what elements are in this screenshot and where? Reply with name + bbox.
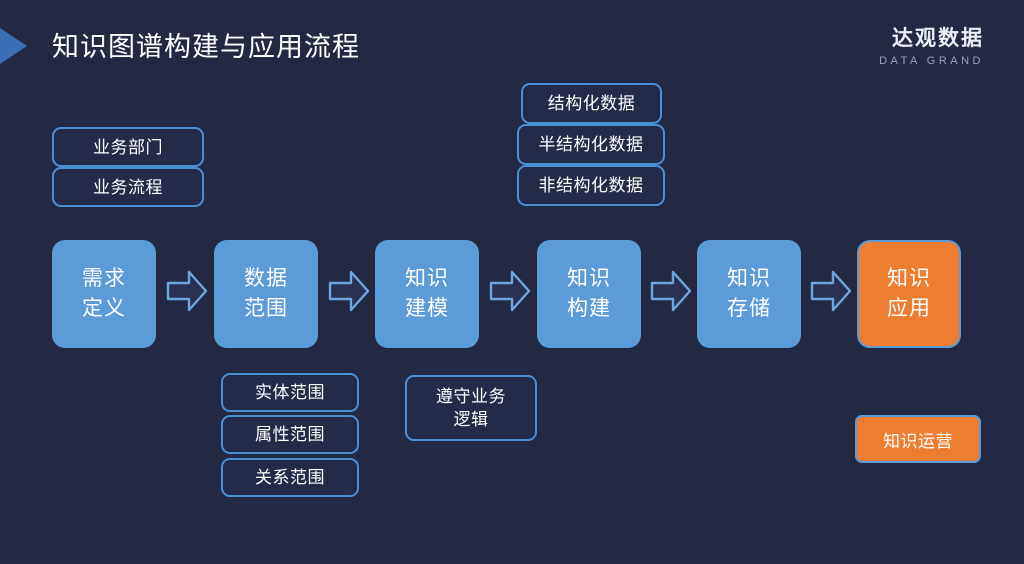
process-step-2-line1: 知识 xyxy=(405,264,449,294)
process-step-5-line1: 知识 xyxy=(887,264,931,294)
top-left-item-0-label: 业务部门 xyxy=(93,136,163,159)
top-center-item-2[interactable]: 非结构化数据 xyxy=(517,165,665,206)
bottom-logic-box-line1: 遵守业务 xyxy=(436,385,506,408)
process-step-5[interactable]: 知识 应用 xyxy=(857,240,961,348)
slide-canvas: 知识图谱构建与应用流程 达观数据 DATA GRAND 业务部门 业务流程 结构… xyxy=(0,0,1024,564)
bottom-ops-box[interactable]: 知识运营 xyxy=(855,415,981,463)
triangle-right-icon xyxy=(0,28,27,64)
process-step-0-line1: 需求 xyxy=(82,264,126,294)
block-arrow-right-icon xyxy=(489,268,531,314)
brand-logo: 达观数据 DATA GRAND xyxy=(879,26,984,69)
process-step-3-line2: 构建 xyxy=(567,294,611,324)
block-arrow-right-icon xyxy=(328,268,370,314)
process-step-4-line2: 存储 xyxy=(727,294,771,324)
bottom-logic-box-line2: 逻辑 xyxy=(454,408,489,431)
process-step-4[interactable]: 知识 存储 xyxy=(697,240,801,348)
process-step-2[interactable]: 知识 建模 xyxy=(375,240,479,348)
process-step-4-line1: 知识 xyxy=(727,264,771,294)
bottom-scope-item-0-label: 实体范围 xyxy=(255,381,325,404)
brand-logo-en: DATA GRAND xyxy=(879,53,984,69)
bottom-scope-item-1[interactable]: 属性范围 xyxy=(221,415,359,454)
top-center-item-1-label: 半结构化数据 xyxy=(539,133,644,156)
block-arrow-right-icon xyxy=(166,268,208,314)
top-center-item-0-label: 结构化数据 xyxy=(548,92,636,115)
process-step-3-line1: 知识 xyxy=(567,264,611,294)
bottom-scope-item-1-label: 属性范围 xyxy=(255,423,325,446)
process-step-0[interactable]: 需求 定义 xyxy=(52,240,156,348)
top-left-item-0[interactable]: 业务部门 xyxy=(52,127,204,167)
block-arrow-right-icon xyxy=(650,268,692,314)
top-center-item-2-label: 非结构化数据 xyxy=(539,174,644,197)
top-left-item-1-label: 业务流程 xyxy=(93,176,163,199)
page-title: 知识图谱构建与应用流程 xyxy=(52,29,360,65)
bottom-scope-item-0[interactable]: 实体范围 xyxy=(221,373,359,412)
process-step-1-line2: 范围 xyxy=(244,294,288,324)
bottom-scope-item-2[interactable]: 关系范围 xyxy=(221,458,359,497)
process-step-3[interactable]: 知识 构建 xyxy=(537,240,641,348)
process-step-0-line2: 定义 xyxy=(82,294,126,324)
process-step-2-line2: 建模 xyxy=(405,294,449,324)
bottom-logic-box[interactable]: 遵守业务 逻辑 xyxy=(405,375,537,441)
block-arrow-right-icon xyxy=(810,268,852,314)
brand-logo-cn: 达观数据 xyxy=(879,26,984,52)
bottom-ops-box-label: 知识运营 xyxy=(883,427,953,452)
bottom-scope-item-2-label: 关系范围 xyxy=(255,466,325,489)
process-step-1-line1: 数据 xyxy=(244,264,288,294)
process-step-5-line2: 应用 xyxy=(887,294,931,324)
top-left-item-1[interactable]: 业务流程 xyxy=(52,167,204,207)
top-center-item-0[interactable]: 结构化数据 xyxy=(521,83,662,124)
process-step-1[interactable]: 数据 范围 xyxy=(214,240,318,348)
top-center-item-1[interactable]: 半结构化数据 xyxy=(517,124,665,165)
